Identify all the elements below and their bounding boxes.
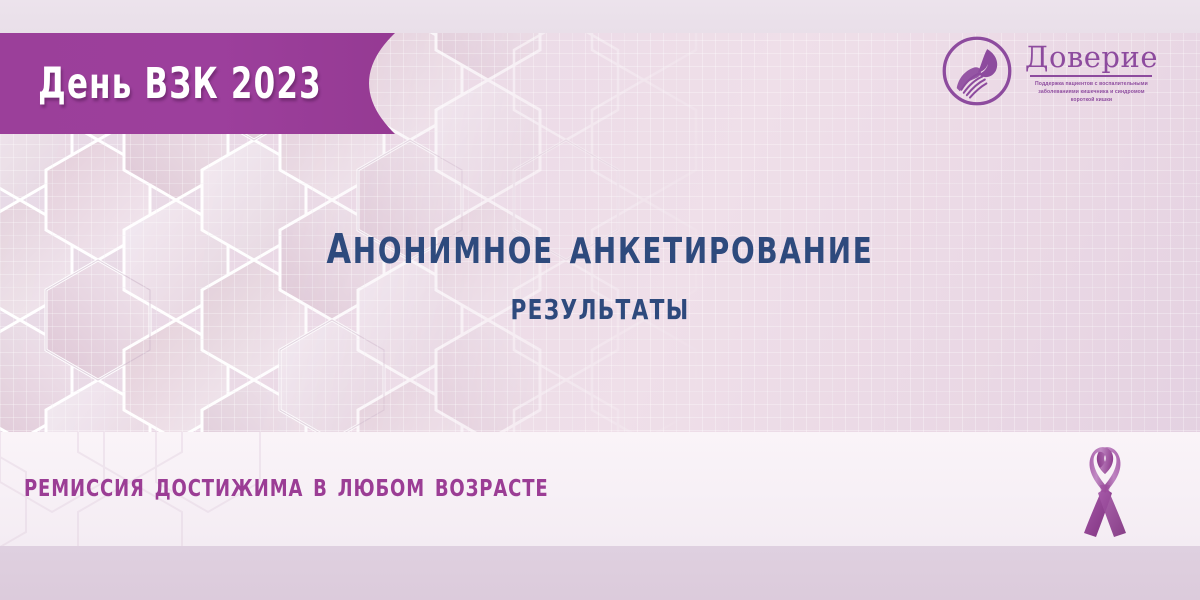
logo-wordmark: Доверие — [1025, 43, 1158, 72]
logo-divider — [1030, 75, 1152, 77]
poster-canvas: День ВЗК 2023 Доверие Подд — [0, 0, 1200, 600]
logo-tagline: Поддержка пациентов с воспалительными за… — [1030, 81, 1152, 105]
event-banner: День ВЗК 2023 — [0, 33, 410, 134]
hand-holding-leaf-circle-icon — [938, 32, 1016, 110]
footer-tagline: Ремиссия достижима в любом возрасте — [24, 468, 549, 501]
footer-fill — [0, 546, 1200, 600]
organization-logo: Доверие Поддержка пациентов с воспалител… — [938, 32, 1158, 110]
page-subtitle: результаты — [84, 286, 1116, 326]
awareness-ribbon-icon — [1072, 443, 1138, 539]
top-strip — [0, 0, 1200, 33]
page-title-group: Анонимное анкетирование результаты — [0, 214, 1200, 326]
page-title: Анонимное анкетирование — [84, 214, 1116, 272]
logo-text-group: Доверие Поддержка пациентов с воспалител… — [1025, 37, 1158, 105]
event-banner-label: День ВЗК 2023 — [36, 33, 324, 134]
